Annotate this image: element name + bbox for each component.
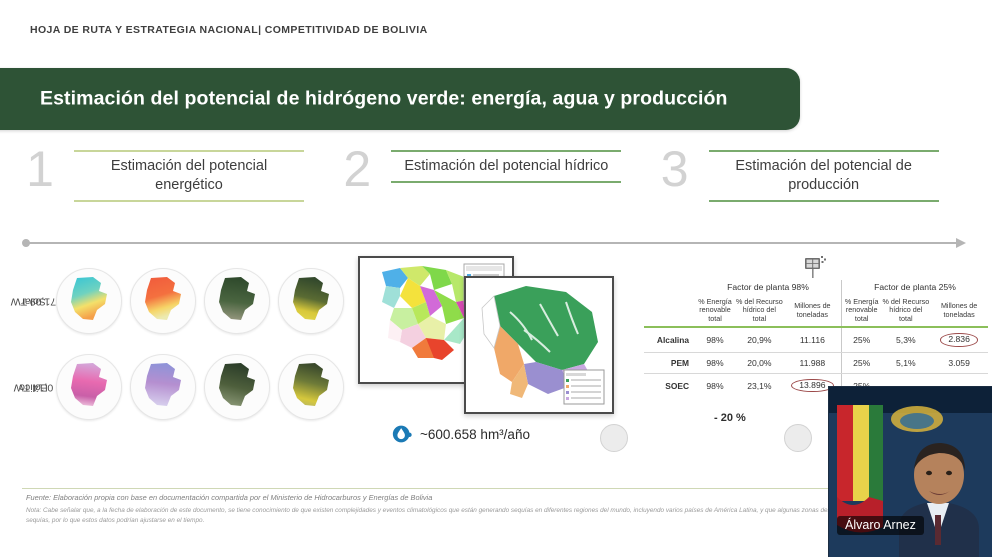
title-band: Estimación del potencial de hidrógeno ve… bbox=[0, 68, 800, 130]
table-corner-cell bbox=[644, 296, 695, 326]
solar-map-circles bbox=[56, 268, 344, 334]
eolico-map-circles bbox=[56, 354, 344, 420]
cell-pem-toneladas-25: 3.059 bbox=[930, 352, 988, 373]
footer-note: Nota: Cabe señalar que, a la fecha de el… bbox=[26, 506, 906, 525]
highlighted-value: 2.836 bbox=[940, 333, 978, 346]
step-1: 1 Estimación del potencial energético bbox=[18, 146, 335, 226]
bolivia-outline-icon bbox=[137, 360, 189, 412]
map-legend-box bbox=[564, 370, 604, 404]
steps-row: 1 Estimación del potencial energético 2 … bbox=[18, 146, 970, 226]
water-volume-value: ~600.658 hm³/año bbox=[420, 427, 530, 442]
bolivia-map-thumb bbox=[204, 268, 270, 334]
step-body: Estimación del potencial hídrico bbox=[385, 146, 627, 183]
solar-panel-icon bbox=[802, 254, 828, 280]
cell-pem-hidrico-25: 5,1% bbox=[881, 352, 930, 373]
step-label: Estimación del potencial de producción bbox=[709, 152, 939, 200]
bolivia-map-thumb bbox=[278, 354, 344, 420]
timeline-arrow bbox=[22, 238, 966, 248]
cell-soec-energia-98: 98% bbox=[695, 373, 735, 397]
participant-name-label: Álvaro Arnez bbox=[837, 516, 924, 535]
cell-pem-hidrico-98: 20,0% bbox=[735, 352, 784, 373]
bolivia-map-thumb bbox=[56, 354, 122, 420]
bolivia-hydrography-map-icon bbox=[466, 278, 608, 408]
subheader-energia-98: % Energía renovable total bbox=[695, 296, 735, 326]
footer-divider bbox=[22, 488, 968, 489]
table-subheader-row: % Energía renovable total % del Recurso … bbox=[644, 296, 988, 326]
bolivia-outline-icon bbox=[63, 360, 115, 412]
energy-row-label: Solar71,09 TW bbox=[10, 262, 56, 340]
footer-source: Fuente: Elaboración propia con base en d… bbox=[26, 493, 726, 503]
cell-alcalina-toneladas-98: 11.116 bbox=[784, 328, 842, 352]
energy-potential-block: Solar71,09 TW bbox=[10, 262, 350, 430]
step-number: 1 bbox=[18, 146, 62, 194]
row-label-alcalina: Alcalina bbox=[644, 328, 695, 352]
subheader-toneladas-25: Millones de toneladas bbox=[930, 296, 988, 326]
table-corner-cell bbox=[644, 280, 695, 296]
cell-alcalina-energia-98: 98% bbox=[695, 328, 735, 352]
table-row: PEM 98% 20,0% 11.988 25% 5,1% 3.059 bbox=[644, 352, 988, 373]
energy-row-solar: Solar71,09 TW bbox=[10, 262, 350, 340]
energy-row-label: Eólico0,14 TW bbox=[10, 348, 56, 426]
video-participant-tile[interactable]: Álvaro Arnez bbox=[828, 386, 992, 557]
production-delta-annotation: - 20 % bbox=[714, 412, 746, 424]
hydric-map-panels bbox=[358, 256, 610, 412]
map-panel-hydrography bbox=[464, 276, 614, 414]
step-rule-bottom bbox=[74, 200, 304, 202]
bolivia-map-thumb bbox=[278, 268, 344, 334]
water-drop-icon bbox=[392, 424, 412, 444]
slide-canvas: HOJA DE RUTA Y ESTRATEGIA NACIONAL| COMP… bbox=[0, 0, 992, 556]
step-label: Estimación del potencial hídrico bbox=[391, 152, 621, 181]
subheader-hidrico-25: % del Recurso hídrico del total bbox=[881, 296, 930, 326]
bolivia-map-thumb bbox=[130, 268, 196, 334]
timeline-line bbox=[28, 242, 956, 244]
step-2: 2 Estimación del potencial hídrico bbox=[335, 146, 652, 226]
bolivia-flag-icon bbox=[837, 405, 883, 533]
bolivia-outline-icon bbox=[63, 274, 115, 326]
bolivia-map-thumb bbox=[130, 354, 196, 420]
cell-alcalina-hidrico-98: 20,9% bbox=[735, 328, 784, 352]
bolivia-outline-icon bbox=[211, 274, 263, 326]
slide-kicker: HOJA DE RUTA Y ESTRATEGIA NACIONAL| COMP… bbox=[30, 24, 428, 36]
step-body: Estimación del potencial energético bbox=[68, 146, 310, 202]
subheader-energia-25: % Energía renovable total bbox=[841, 296, 881, 326]
cell-alcalina-energia-25: 25% bbox=[841, 328, 881, 352]
cell-pem-toneladas-98: 11.988 bbox=[784, 352, 842, 373]
cell-pem-energia-98: 98% bbox=[695, 352, 735, 373]
bolivia-map-thumb bbox=[204, 354, 270, 420]
step-body: Estimación del potencial de producción bbox=[703, 146, 945, 202]
flow-node-circle bbox=[600, 424, 628, 452]
step-3: 3 Estimación del potencial de producción bbox=[653, 146, 970, 226]
energy-row-eolico: Eólico0,14 TW bbox=[10, 348, 350, 426]
bolivia-outline-icon bbox=[285, 274, 337, 326]
timeline-arrowhead-icon bbox=[956, 238, 966, 248]
subheader-toneladas-98: Millones de toneladas bbox=[784, 296, 842, 326]
row-label-pem: PEM bbox=[644, 352, 695, 373]
page-title: Estimación del potencial de hidrógeno ve… bbox=[40, 88, 728, 111]
row-label-soec: SOEC bbox=[644, 373, 695, 397]
group-header-25: Factor de planta 25% bbox=[841, 280, 988, 296]
step-rule-bottom bbox=[709, 200, 939, 202]
table-row: Alcalina 98% 20,9% 11.116 25% 5,3% 2.836 bbox=[644, 328, 988, 352]
step-number: 3 bbox=[653, 146, 697, 194]
step-rule-bottom bbox=[391, 181, 621, 183]
subheader-hidrico-98: % del Recurso hídrico del total bbox=[735, 296, 784, 326]
cell-soec-hidrico-98: 23,1% bbox=[735, 373, 784, 397]
bolivia-outline-icon bbox=[137, 274, 189, 326]
cell-pem-energia-25: 25% bbox=[841, 352, 881, 373]
water-volume-annotation: ~600.658 hm³/año bbox=[392, 424, 530, 444]
table-group-header-row: Factor de planta 98% Factor de planta 25… bbox=[644, 280, 988, 296]
production-table: Factor de planta 98% Factor de planta 25… bbox=[644, 280, 988, 397]
cell-alcalina-hidrico-25: 5,3% bbox=[881, 328, 930, 352]
step-number: 2 bbox=[335, 146, 379, 194]
step-label: Estimación del potencial energético bbox=[74, 152, 304, 200]
group-header-98: Factor de planta 98% bbox=[695, 280, 841, 296]
cell-alcalina-toneladas-25: 2.836 bbox=[930, 328, 988, 352]
bolivia-map-thumb bbox=[56, 268, 122, 334]
bolivia-outline-icon bbox=[285, 360, 337, 412]
bolivia-outline-icon bbox=[211, 360, 263, 412]
